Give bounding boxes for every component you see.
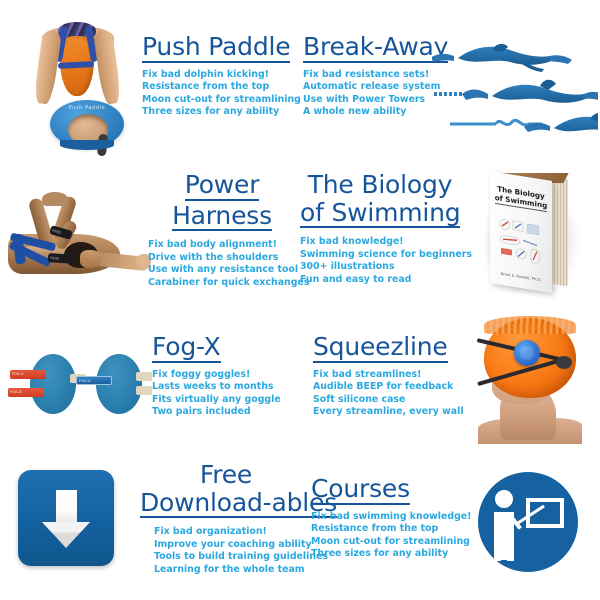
bullet-line: Audible BEEP for feedback xyxy=(313,381,464,394)
product-block-break-away: Break-Away Fix bad resistance sets! Auto… xyxy=(303,34,448,119)
product-heading-squeezline: Squeezline xyxy=(313,334,464,363)
bullet-line: Swimming science for beginners xyxy=(300,249,460,262)
product-bullets-courses: Fix bad swimming knowledge! Resistance f… xyxy=(311,511,471,561)
bullet-line: Fix bad organization! xyxy=(154,526,312,539)
teacher-leg-right xyxy=(507,536,514,561)
heading-line-1: Free xyxy=(200,462,252,488)
heading-line-1: The Biology xyxy=(308,172,453,198)
product-bullets-power-harness: Fix bad body alignment! Drive with the s… xyxy=(148,239,296,289)
bullet-line: A whole new ability xyxy=(303,106,448,119)
product-block-biology-of-swimming: The Biology of Swimming Fix bad knowledg… xyxy=(300,172,460,286)
squeezline-device xyxy=(514,340,540,366)
product-block-power-harness: Power Harness Fix bad body alignment! Dr… xyxy=(148,172,296,289)
power-harness-photo: FINIS FINIS xyxy=(8,192,150,296)
bullet-line: Fun and easy to read xyxy=(300,274,460,287)
product-heading-free-downloadables: Free Download-ables xyxy=(140,462,312,518)
book-cover-title: The Biology of Swimming xyxy=(490,183,552,211)
courses-teacher-icon[interactable] xyxy=(478,472,578,572)
bullet-line: Fix foggy goggles! xyxy=(152,369,281,382)
product-block-free-downloadables: Free Download-ables Fix bad organization… xyxy=(140,462,312,576)
cuff-label: FINIS xyxy=(52,228,62,234)
product-heading-power-harness: Power Harness xyxy=(148,172,296,231)
product-bullets-biology-of-swimming: Fix bad knowledge! Swimming science for … xyxy=(300,236,460,286)
fog-x-packet-blue: FOG-X xyxy=(76,376,112,385)
bullet-line: Lasts weeks to months xyxy=(152,381,281,394)
bullet-line: Use with Power Towers xyxy=(303,94,448,107)
download-icon-tile xyxy=(18,470,114,566)
bullet-line: Fix bad body alignment! xyxy=(148,239,296,252)
break-away-svg xyxy=(432,30,598,148)
product-heading-push-paddle: Push Paddle xyxy=(142,34,301,63)
arrow-stem xyxy=(56,490,77,524)
book-diagram-svg xyxy=(496,214,546,272)
heading-line-1: Fog-X xyxy=(152,334,221,363)
bullet-line: Carabiner for quick exchanges xyxy=(148,277,296,290)
heading-line-1: Power xyxy=(185,172,260,201)
bullet-line: Fix bad resistance sets! xyxy=(303,69,448,82)
cuff-label: FINIS xyxy=(50,256,59,261)
bullet-line: Three sizes for any ability xyxy=(142,106,301,119)
teacher-head xyxy=(495,490,513,508)
swimmer-bottom xyxy=(524,113,598,134)
bullet-line: Learning for the whole team xyxy=(154,564,312,577)
disc-tab-right-upper xyxy=(136,372,152,381)
product-bullets-squeezline: Fix bad streamlines! Audible BEEP for fe… xyxy=(313,369,464,419)
heading-line-1: Break-Away xyxy=(303,34,448,63)
paddle-lower-edge xyxy=(60,140,114,150)
bullet-line: 300+ illustrations xyxy=(300,261,460,274)
product-bullets-break-away: Fix bad resistance sets! Automatic relea… xyxy=(303,69,448,119)
product-block-courses: Courses Fix bad swimming knowledge! Resi… xyxy=(311,476,471,561)
bullet-line: Two pairs included xyxy=(152,406,281,419)
product-block-push-paddle: Push Paddle Fix bad dolphin kicking! Res… xyxy=(142,34,301,119)
bullet-line: Fix bad knowledge! xyxy=(300,236,460,249)
bullet-line: Automatic release system xyxy=(303,81,448,94)
goggle-lens xyxy=(556,356,572,369)
heading-line-1: Push Paddle xyxy=(142,34,290,63)
heading-line-1: Squeezline xyxy=(313,334,448,363)
elbow xyxy=(42,192,68,206)
book-author: Brent S. Rushall, Ph.D. xyxy=(490,270,552,284)
swimmer-middle xyxy=(432,80,598,103)
bullet-line: Moon cut-out for streamlining xyxy=(311,536,471,549)
bullet-line: Drive with the shoulders xyxy=(148,252,296,265)
teacher-leg-left xyxy=(494,536,501,561)
bullet-line: Fix bad dolphin kicking! xyxy=(142,69,301,82)
book-cover-diagrams xyxy=(496,214,546,272)
bullet-line: Resistance from the top xyxy=(142,81,301,94)
push-paddle-disc-label: Push Paddle xyxy=(50,105,124,111)
product-block-fog-x: Fog-X Fix foggy goggles! Lasts weeks to … xyxy=(152,334,281,419)
bullet-line: Three sizes for any ability xyxy=(311,548,471,561)
bullet-line: Fix bad streamlines! xyxy=(313,369,464,382)
product-heading-break-away: Break-Away xyxy=(303,34,448,63)
pointer-stick xyxy=(518,506,544,523)
swimmer-top xyxy=(432,44,572,72)
push-paddle-photo: Push Paddle xyxy=(22,18,138,148)
heading-line-1: Courses xyxy=(311,476,410,505)
biology-of-swimming-book: The Biology of Swimming xyxy=(478,168,588,294)
bullet-line: Fits virtually any goggle xyxy=(152,394,281,407)
disc-tab-right-lower xyxy=(136,386,152,395)
bullet-line: Fix bad swimming knowledge! xyxy=(311,511,471,524)
fog-x-discs-photo: FOG-X FOG-X FOG-X xyxy=(8,346,138,422)
push-paddle-disc: Push Paddle xyxy=(50,100,124,148)
heading-line-2: of Swimming xyxy=(300,200,460,229)
heading-line-2: Download-ables xyxy=(140,490,337,519)
product-bullets-free-downloadables: Fix bad organization! Improve your coach… xyxy=(154,526,312,576)
broken-tether xyxy=(450,120,542,125)
bullet-line: Soft silicone case xyxy=(313,394,464,407)
product-grid-poster: Push Paddle Push Paddle Fix bad dolphin … xyxy=(0,0,600,600)
bullet-line: Resistance from the top xyxy=(311,523,471,536)
bullet-line: Every streamline, every wall xyxy=(313,406,464,419)
fog-x-packet-red-2: FOG-X xyxy=(8,388,44,397)
bullet-line: Moon cut-out for streamlining xyxy=(142,94,301,107)
product-block-squeezline: Squeezline Fix bad streamlines! Audible … xyxy=(313,334,464,419)
harness-cuff-lower: FINIS xyxy=(48,253,77,264)
product-heading-courses: Courses xyxy=(311,476,471,505)
fog-x-packet-red-1: FOG-X xyxy=(10,370,46,379)
squeezline-swim-cap-photo xyxy=(470,312,596,440)
book-cover: The Biology of Swimming xyxy=(490,171,552,293)
swim-cap-wrinkle-edge xyxy=(484,316,576,334)
swimmer-arm-right xyxy=(93,29,122,105)
product-bullets-fog-x: Fix foggy goggles! Lasts weeks to months… xyxy=(152,369,281,419)
heading-line-2: Harness xyxy=(172,203,272,232)
product-bullets-push-paddle: Fix bad dolphin kicking! Resistance from… xyxy=(142,69,301,119)
fog-x-disc-left xyxy=(30,354,76,414)
product-heading-fog-x: Fog-X xyxy=(152,334,281,363)
bullet-line: Use with any resistance tool xyxy=(148,264,296,277)
break-away-swimmers-illustration xyxy=(432,30,598,148)
product-heading-biology-of-swimming: The Biology of Swimming xyxy=(300,172,460,228)
bullet-line: Improve your coaching ability xyxy=(154,539,312,552)
swimmer-face xyxy=(80,250,102,268)
teacher-whiteboard-glyph xyxy=(478,472,578,572)
bullet-line: Tools to build training guidelines xyxy=(154,551,312,564)
download-arrow-icon[interactable] xyxy=(18,470,114,566)
